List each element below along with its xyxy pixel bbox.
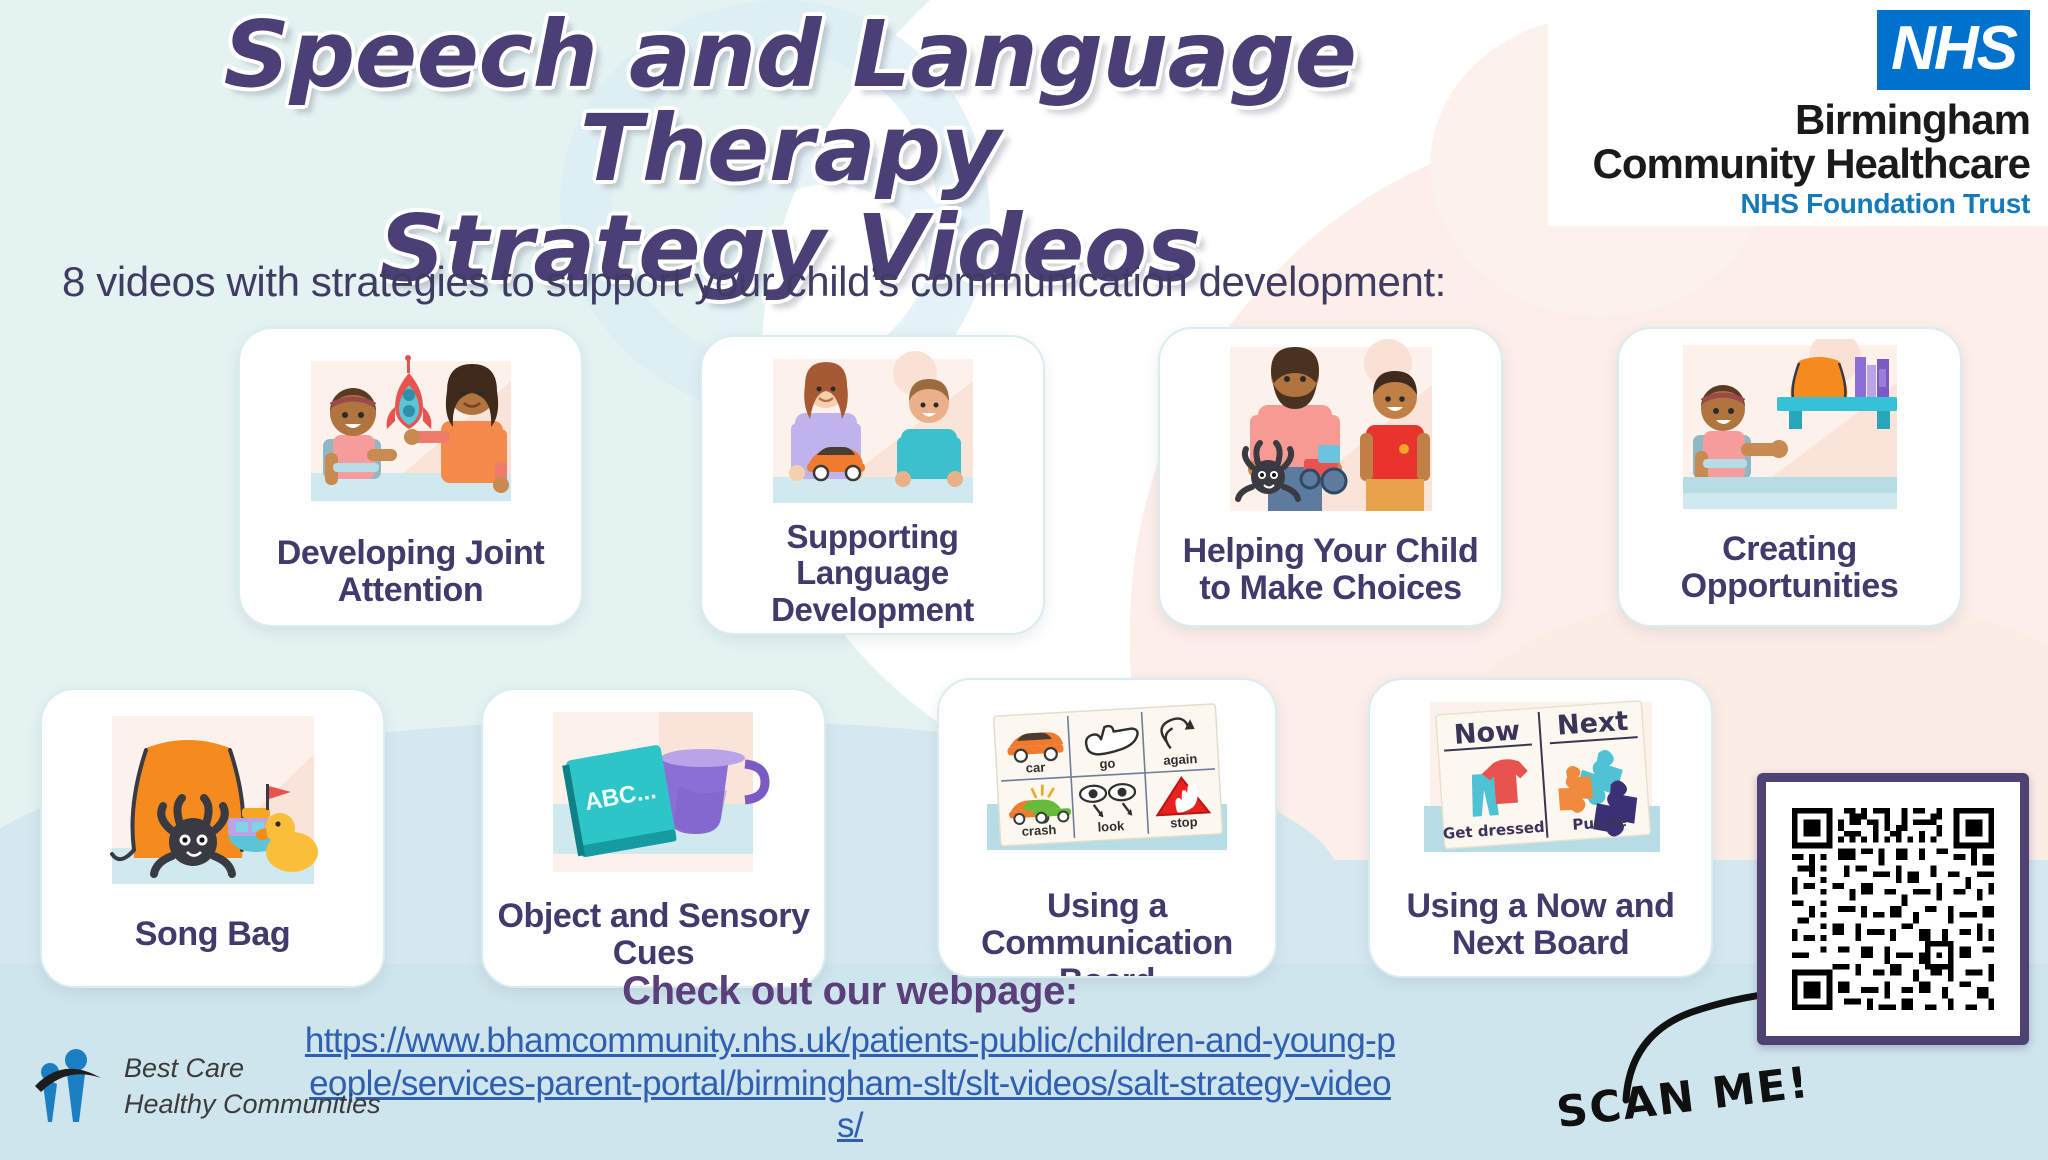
- nhs-trust-line-2: Community Healthcare: [1560, 142, 2030, 186]
- title-line-1: Speech and Language Therapy: [60, 8, 1520, 196]
- now-next-header-next: Next: [1556, 706, 1629, 742]
- nhs-logo: NHS Birmingham Community Healthcare NHS …: [1560, 10, 2030, 220]
- best-care-line-2: Healthy Communities: [124, 1086, 381, 1122]
- board-cell-label-again: again: [1163, 751, 1198, 768]
- video-card-developing-joint-attention[interactable]: Developing Joint Attention: [238, 327, 583, 627]
- best-care-logo: Best Care Healthy Communities: [30, 1046, 381, 1126]
- video-card-using-a-now-and-next-board[interactable]: Now Next Get dressed Puzzle Using a Now …: [1368, 678, 1713, 978]
- abc-book-and-purple-cup-icon: ABC...: [483, 706, 824, 880]
- video-card-label: Creating Opportunities: [1619, 531, 1960, 606]
- footer-heading: Check out our webpage:: [0, 969, 1700, 1014]
- video-card-label: Supporting Language Development Through …: [702, 519, 1043, 635]
- board-cell-label-stop: stop: [1170, 814, 1198, 831]
- board-cell-label-crash: crash: [1021, 822, 1057, 839]
- board-cell-label-go: go: [1099, 756, 1116, 772]
- video-card-supporting-language-development-through-play[interactable]: Supporting Language Development Through …: [700, 335, 1045, 635]
- video-card-creating-opportunities[interactable]: Creating Opportunities: [1617, 327, 1962, 627]
- best-care-line-1: Best Care: [124, 1050, 381, 1086]
- qr-matrix-icon: [1786, 802, 2000, 1016]
- adult-and-child-with-rocket-toy-icon: [240, 343, 581, 523]
- nhs-trust-line-1: Birmingham: [1560, 98, 2030, 142]
- nhs-badge: NHS: [1877, 10, 2030, 90]
- video-card-using-a-communication-board[interactable]: car go again: [937, 678, 1277, 978]
- best-care-text: Best Care Healthy Communities: [124, 1050, 381, 1123]
- board-cell-label-look: look: [1097, 818, 1125, 835]
- page-title: Speech and Language Therapy Strategy Vid…: [60, 8, 1520, 295]
- video-card-label: Object and Sensory Cues: [483, 898, 824, 973]
- qr-code[interactable]: [1757, 773, 2029, 1045]
- video-card-object-and-sensory-cues[interactable]: ABC... Object and Sensory Cues: [481, 688, 826, 988]
- six-cell-symbol-board-icon: car go again: [939, 694, 1275, 872]
- nhs-trust-line-3: NHS Foundation Trust: [1560, 188, 2030, 220]
- orange-drawstring-bag-with-spider-boat-and-duck-icon: [42, 710, 383, 890]
- subtitle-text: 8 videos with strategies to support your…: [62, 258, 1446, 306]
- video-card-label: Using a Now and Next Board: [1370, 888, 1711, 963]
- child-reaching-for-shelf-with-bag-and-books-icon: [1619, 339, 1960, 517]
- now-next-board-icon: Now Next Get dressed Puzzle: [1370, 694, 1711, 874]
- now-next-header-now: Now: [1452, 715, 1520, 751]
- video-card-label: Song Bag: [123, 916, 302, 953]
- board-cell-label-car: car: [1025, 759, 1045, 775]
- video-card-song-bag[interactable]: Song Bag: [40, 688, 385, 988]
- video-card-helping-your-child-to-make-choices[interactable]: Helping Your Child to Make Choices: [1158, 327, 1503, 627]
- video-card-label: Developing Joint Attention: [240, 535, 581, 610]
- qr-code-image: [1766, 782, 2020, 1036]
- poster-root: Speech and Language Therapy Strategy Vid…: [0, 0, 2048, 1160]
- two-people-logo-icon: [30, 1046, 108, 1126]
- video-card-label: Helping Your Child to Make Choices: [1160, 533, 1501, 608]
- now-next-item-next: Puzzle: [1571, 812, 1627, 834]
- adult-offering-two-toys-to-child-icon: [1160, 339, 1501, 521]
- video-card-label: Using a Communication Board: [939, 888, 1275, 978]
- adult-and-child-with-toy-car-icon: [702, 351, 1043, 511]
